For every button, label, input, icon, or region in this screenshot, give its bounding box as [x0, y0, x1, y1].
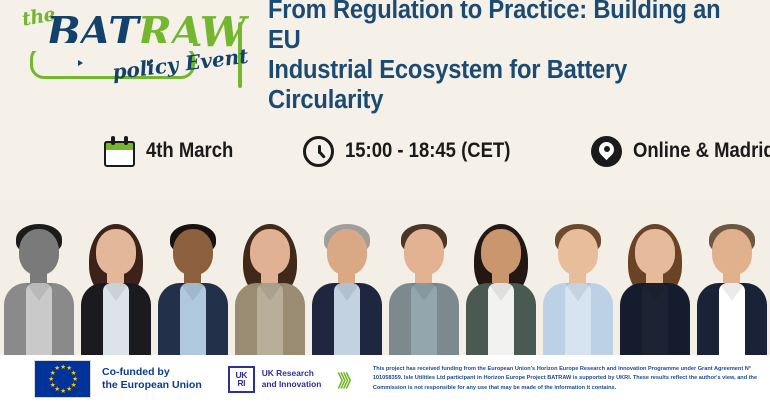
eu-flag-icon: ★★★★★★★★★★★★	[34, 360, 91, 398]
eu-funding-line-1: Co-funded by	[102, 366, 202, 379]
location-pin-icon	[591, 136, 622, 167]
speaker-portrait	[308, 200, 385, 355]
event-location-label: Online & Madrid	[633, 139, 770, 163]
banner-header: the BATRAW policy Event From Regulation …	[0, 0, 770, 110]
eu-star-icon: ★	[60, 389, 66, 396]
eu-funding-line-2: the European Union	[102, 379, 202, 392]
chevron-arrows-icon: 》》	[337, 367, 357, 392]
speaker-portrait	[231, 200, 308, 355]
eu-star-icon: ★	[60, 365, 66, 372]
ukri-label: UK Research and Innovation	[262, 368, 322, 390]
calendar-icon	[104, 136, 135, 167]
event-info-bar: 4th March 15:00 - 18:45 (CET) Online & M…	[0, 120, 770, 182]
ukri-mark-line-2: RI	[237, 379, 245, 387]
info-item-location: Online & Madrid	[591, 136, 770, 167]
funding-footer: ★★★★★★★★★★★★ Co-funded by the European U…	[0, 355, 770, 403]
eu-star-icon: ★	[54, 366, 60, 373]
ukri-mark-icon: UK RI	[228, 366, 255, 393]
event-time-label: 15:00 - 18:45 (CET)	[345, 139, 510, 163]
speaker-portrait	[693, 200, 770, 355]
speaker-portrait	[539, 200, 616, 355]
event-banner: the BATRAW policy Event From Regulation …	[0, 0, 770, 403]
info-item-time: 15:00 - 18:45 (CET)	[303, 136, 533, 167]
speaker-portrait	[154, 200, 231, 355]
logo-arrow-left-icon	[78, 60, 83, 66]
speaker-portrait	[616, 200, 693, 355]
eu-star-icon: ★	[50, 383, 56, 390]
speaker-photo-band	[0, 200, 770, 355]
batraw-logo: the BATRAW policy Event	[0, 0, 238, 110]
ukri-logo: UK RI UK Research and Innovation	[228, 366, 322, 393]
speaker-portrait	[462, 200, 539, 355]
logo-loop-mask	[33, 43, 193, 51]
info-item-date: 4th March	[104, 136, 245, 167]
funding-disclaimer: This project has received funding from t…	[373, 365, 760, 394]
eu-star-icon: ★	[66, 387, 72, 394]
ukri-label-line-2: and Innovation	[262, 379, 322, 390]
title-line-2: Industrial Ecosystem for Battery Circula…	[268, 56, 627, 114]
speaker-portrait	[385, 200, 462, 355]
speaker-portrait	[77, 200, 154, 355]
title-line-1: From Regulation to Practice: Building an…	[268, 0, 720, 54]
event-date-label: 4th March	[146, 139, 233, 163]
page-title: From Regulation to Practice: Building an…	[242, 0, 770, 115]
eu-star-icon: ★	[48, 377, 54, 384]
eu-funding-text: Co-funded by the European Union	[102, 366, 202, 393]
ukri-label-line-1: UK Research	[262, 368, 322, 379]
speaker-portrait	[0, 200, 77, 355]
clock-icon	[303, 136, 334, 167]
